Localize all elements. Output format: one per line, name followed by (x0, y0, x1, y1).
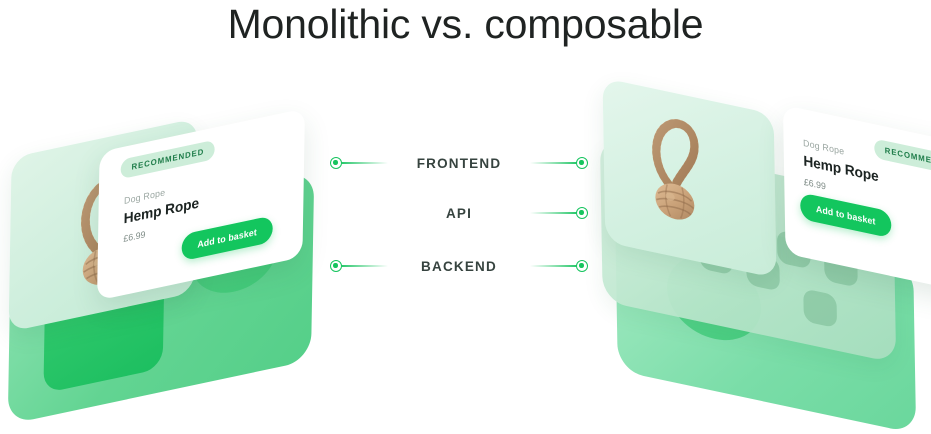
page-title: Monolithic vs. composable (0, 0, 931, 50)
layer-label-frontend: FRONTEND (388, 156, 530, 171)
api-left-connector-hidden (330, 202, 388, 224)
layer-row-api: API (330, 202, 588, 224)
frontend-left-connector (330, 152, 388, 174)
service-node (803, 288, 837, 328)
connector-dot-icon (330, 157, 342, 169)
add-to-basket-button[interactable]: Add to basket (800, 192, 891, 238)
monolithic-stack: RECOMMENDED Dog Rope Hemp Rope £6.99 Add… (0, 60, 340, 407)
diagram-canvas: Monolithic vs. composable (0, 0, 931, 407)
rope-toy-icon (636, 99, 714, 230)
connector-line (530, 212, 576, 213)
connector-line (530, 162, 576, 163)
product-price: £6.99 (123, 229, 145, 244)
add-to-basket-button[interactable]: Add to basket (181, 215, 272, 261)
backend-left-connector (330, 255, 388, 277)
connector-dot-icon (576, 207, 588, 219)
frontend-right-connector (530, 152, 588, 174)
api-right-connector (530, 202, 588, 224)
connector-dot-icon (576, 157, 588, 169)
connector-line (342, 162, 388, 163)
composable-stack: RECOMMENDED Dog Rope Hemp Rope £6.99 Add… (588, 60, 931, 407)
connector-line (530, 265, 576, 266)
layer-row-backend: BACKEND (330, 255, 588, 277)
layer-row-frontend: FRONTEND (330, 152, 588, 174)
layer-label-backend: BACKEND (388, 259, 530, 274)
connector-line (342, 265, 388, 266)
layer-labels: FRONTEND API BACKEND (330, 60, 588, 320)
recommended-badge: RECOMMENDED (121, 140, 216, 180)
layer-label-api: API (388, 206, 530, 221)
connector-dot-icon (576, 260, 588, 272)
product-price: £6.99 (804, 177, 826, 192)
recommended-badge: RECOMMENDED (874, 138, 931, 178)
backend-right-connector (530, 255, 588, 277)
connector-dot-icon (330, 260, 342, 272)
